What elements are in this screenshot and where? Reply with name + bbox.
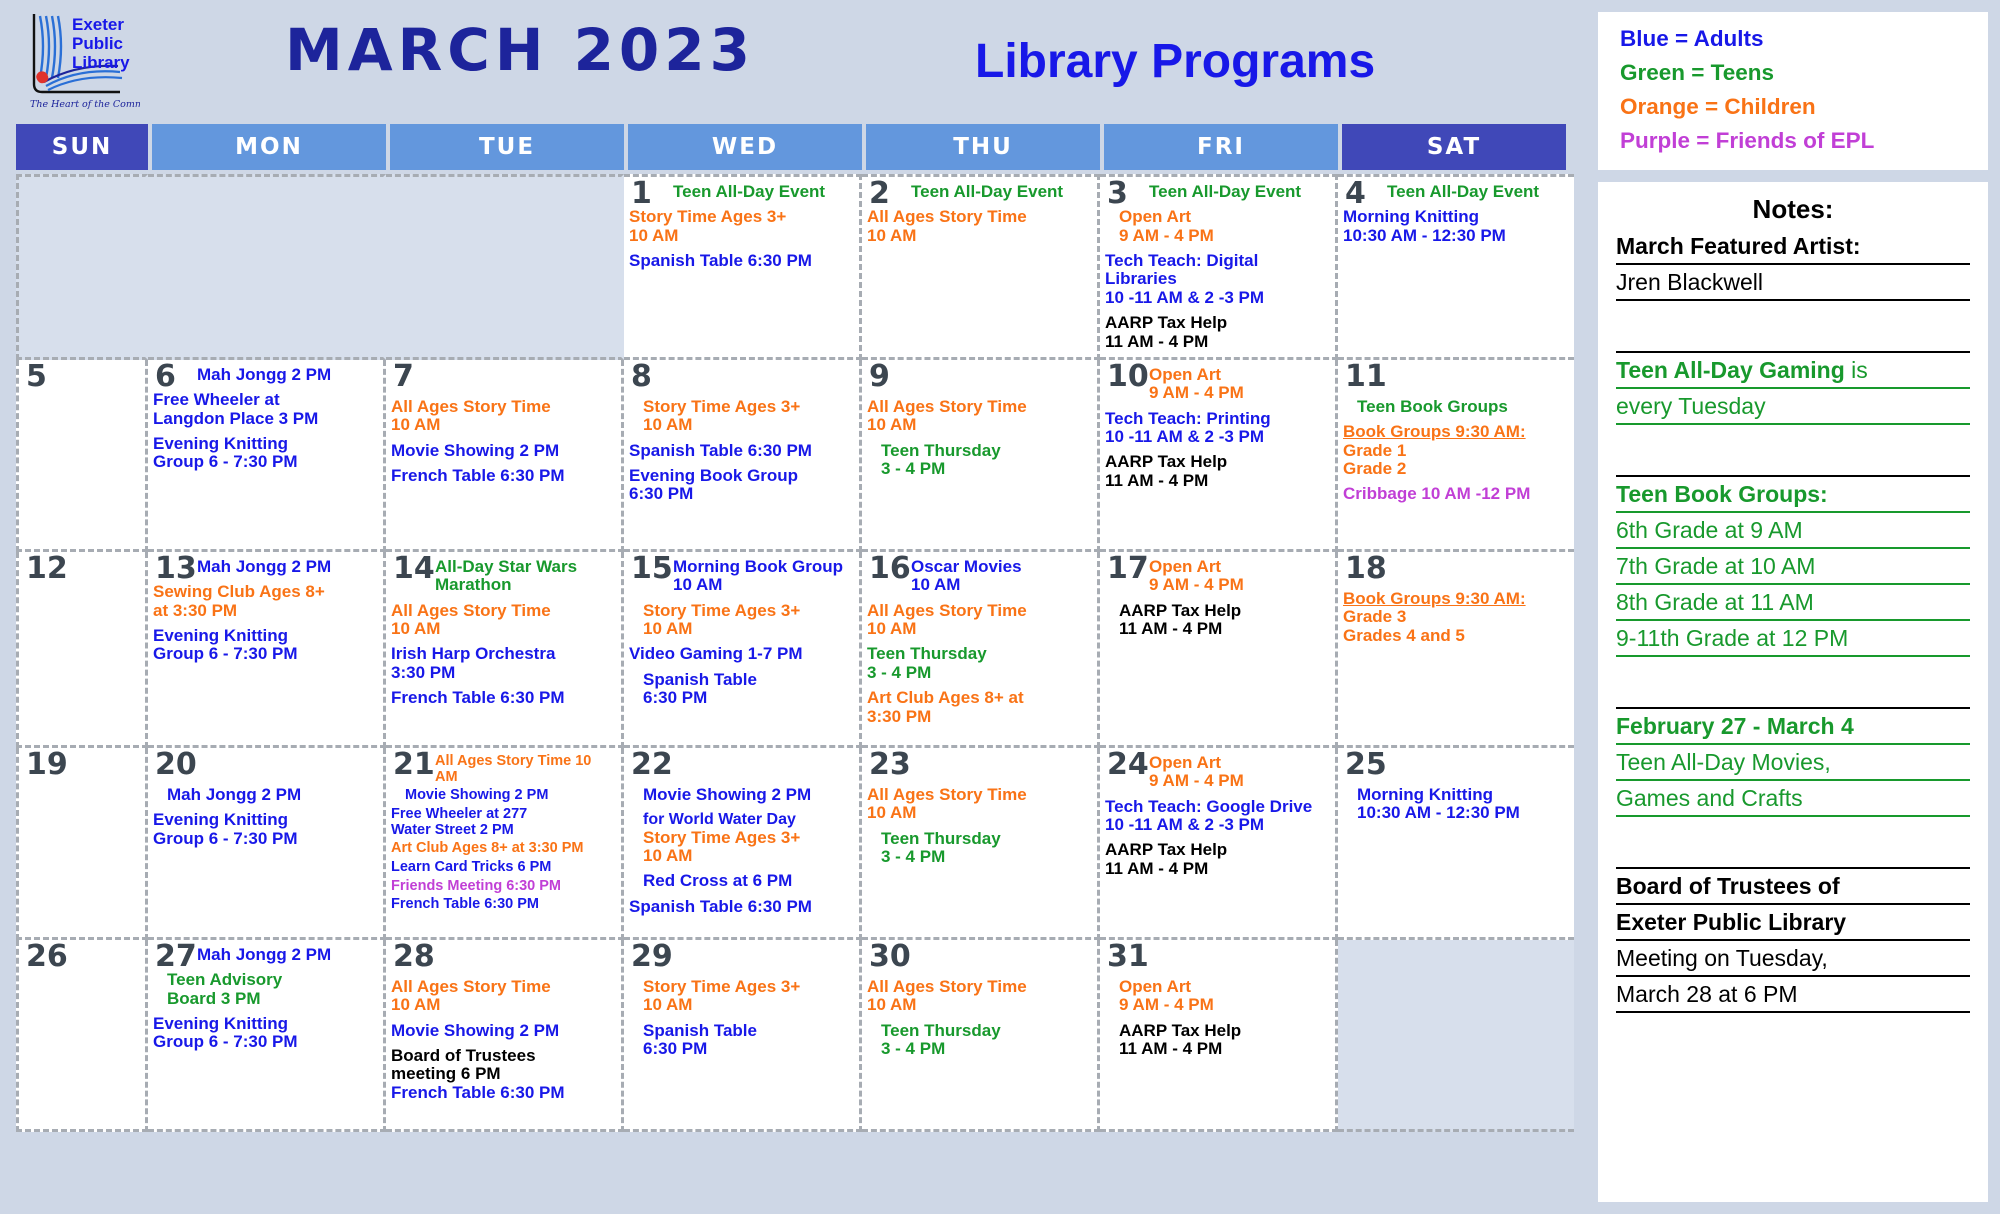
event-item[interactable]: French Table 6:30 PM (391, 1084, 616, 1102)
event-item[interactable]: Grade 1 Grade 2 (1343, 442, 1569, 479)
day-events: Morning Knitting 10:30 AM - 12:30 PM (1343, 786, 1569, 823)
event-item[interactable]: Tech Teach: Google Drive 10 -11 AM & 2 -… (1105, 798, 1330, 835)
calendar-day-29[interactable]: 29Story Time Ages 3+ 10 AMSpanish Table … (624, 940, 862, 1132)
calendar-day-23[interactable]: 23All Ages Story Time 10 AMTeen Thursday… (862, 748, 1100, 940)
day-events: All Ages Story Time 10 AMMovie Showing 2… (391, 978, 616, 1102)
day-events: Teen All-Day EventOpen Art 9 AM - 4 PMTe… (1105, 183, 1330, 351)
calendar-day-22[interactable]: 22Movie Showing 2 PMfor World Water DayS… (624, 748, 862, 940)
day-number: 5 (26, 362, 47, 392)
event-item[interactable]: All Ages Story Time 10 AM (867, 602, 1092, 639)
event-item[interactable]: All Ages Story Time 10 AM (867, 978, 1092, 1015)
event-item[interactable]: Free Wheeler at 277 Water Street 2 PM (391, 807, 616, 838)
event-item[interactable]: Teen Thursday 3 - 4 PM (867, 645, 1092, 682)
calendar-cell-empty (16, 174, 148, 360)
calendar-day-2[interactable]: 2Teen All-Day EventAll Ages Story Time 1… (862, 174, 1100, 360)
day-number: 21 (393, 750, 435, 780)
event-item[interactable]: Story Time Ages 3+ 10 AM (643, 398, 854, 435)
notes-line: Games and Crafts (1616, 781, 1970, 817)
day-number: 18 (1345, 554, 1387, 584)
calendar-day-4[interactable]: 4Teen All-Day EventMorning Knitting 10:3… (1338, 174, 1574, 360)
notes-line: March 28 at 6 PM (1616, 977, 1970, 1013)
event-item[interactable]: Oscar Movies 10 AM (911, 558, 1092, 595)
weekday-header-wed: WED (628, 124, 862, 170)
day-events: All Ages Story Time 10 AMTeen Thursday 3… (867, 398, 1092, 478)
event-item[interactable]: Open Art 9 AM - 4 PM (1119, 208, 1330, 245)
day-events: Movie Showing 2 PMfor World Water DaySto… (629, 786, 854, 916)
day-number: 7 (393, 362, 414, 392)
event-item[interactable]: Teen Thursday 3 - 4 PM (881, 830, 1092, 867)
calendar-day-9[interactable]: 9All Ages Story Time 10 AMTeen Thursday … (862, 360, 1100, 552)
event-item[interactable]: AARP Tax Help 11 AM - 4 PM (1105, 453, 1330, 490)
event-item[interactable]: Free Wheeler at Langdon Place 3 PM (153, 391, 378, 428)
event-item[interactable]: French Table 6:30 PM (391, 689, 616, 707)
event-item[interactable]: Story Time Ages 3+ 10 AM (643, 978, 854, 1015)
day-events: Teen All-Day EventMorning Knitting 10:30… (1343, 183, 1569, 245)
event-item[interactable]: Irish Harp Orchestra 3:30 PM (391, 645, 616, 682)
day-number: 25 (1345, 750, 1387, 780)
event-item[interactable]: French Table 6:30 PM (391, 897, 616, 913)
event-item[interactable]: Open Art 9 AM - 4 PM (1149, 558, 1330, 595)
notes-line: March Featured Artist: (1616, 229, 1970, 265)
event-item[interactable]: Grade 3 Grades 4 and 5 (1343, 608, 1569, 645)
day-events: Story Time Ages 3+ 10 AMSpanish Table 6:… (629, 978, 854, 1058)
day-number: 26 (26, 942, 68, 972)
event-item[interactable]: Book Groups 9:30 AM: (1343, 590, 1569, 608)
event-item[interactable]: Evening Book Group 6:30 PM (629, 467, 854, 504)
programs-title: Library Programs (975, 34, 1375, 89)
notes-spacer (1616, 657, 1970, 679)
event-item[interactable]: Board of Trustees meeting 6 PM (391, 1047, 616, 1084)
calendar-day-19[interactable]: 19 (16, 748, 148, 940)
calendar-day-6[interactable]: 6Mah Jongg 2 PMFree Wheeler at Langdon P… (148, 360, 386, 552)
notes-title: Notes: (1616, 194, 1970, 225)
event-item[interactable]: Movie Showing 2 PM (643, 786, 854, 804)
weekday-header-sat: SAT (1342, 124, 1566, 170)
legend-item-children: Orange = Children (1620, 90, 1988, 124)
event-item[interactable]: Story Time Ages 3+ 10 AM (643, 602, 854, 639)
event-item[interactable]: Spanish Table 6:30 PM (629, 252, 854, 270)
calendar-day-11[interactable]: 11Teen Book GroupsBook Groups 9:30 AM:Gr… (1338, 360, 1574, 552)
event-item[interactable]: All Ages Story Time 10 AM (391, 978, 616, 1015)
event-item[interactable]: Teen Book Groups (1357, 398, 1569, 416)
day-number: 20 (155, 750, 197, 780)
legend-item-friends: Purple = Friends of EPL (1620, 124, 1988, 158)
event-item[interactable]: Teen Advisory Board 3 PM (167, 971, 378, 1008)
day-number: 23 (869, 750, 911, 780)
notes-panel: Notes: March Featured Artist:Jren Blackw… (1598, 182, 1988, 1202)
notes-line: Jren Blackwell (1616, 265, 1970, 301)
notes-lines: March Featured Artist:Jren Blackwell Tee… (1616, 229, 1970, 1013)
day-events: Teen Book GroupsBook Groups 9:30 AM:Grad… (1343, 398, 1569, 504)
event-item[interactable]: Teen All-Day Event (1387, 183, 1569, 201)
event-item[interactable]: Evening Knitting Group 6 - 7:30 PM (153, 1015, 378, 1052)
weekday-header-fri: FRI (1104, 124, 1338, 170)
calendar-day-28[interactable]: 28All Ages Story Time 10 AMMovie Showing… (386, 940, 624, 1132)
notes-spacer (1616, 817, 1970, 839)
notes-line: Teen Book Groups: (1616, 477, 1970, 513)
day-events: Open Art 9 AM - 4 PMAARP Tax Help 11 AM … (1105, 978, 1330, 1058)
day-number: 14 (393, 554, 435, 584)
day-number: 15 (631, 554, 673, 584)
day-number: 6 (155, 362, 176, 392)
event-item[interactable]: Art Club Ages 8+ at 3:30 PM (391, 841, 616, 857)
event-item[interactable]: All-Day Star Wars Marathon (435, 558, 616, 595)
day-number: 9 (869, 362, 890, 392)
day-number: 11 (1345, 362, 1387, 392)
notes-line: Teen All-Day Movies, (1616, 745, 1970, 781)
calendar-day-27[interactable]: 27Mah Jongg 2 PMTeen Advisory Board 3 PM… (148, 940, 386, 1132)
event-item[interactable]: Video Gaming 1-7 PM (629, 645, 854, 663)
notes-line: Exeter Public Library (1616, 905, 1970, 941)
event-item[interactable]: Movie Showing 2 PM (391, 1022, 616, 1040)
notes-line: 6th Grade at 9 AM (1616, 513, 1970, 549)
day-number: 8 (631, 362, 652, 392)
event-item[interactable]: Friends Meeting 6:30 PM (391, 879, 616, 895)
calendar-day-20[interactable]: 20Mah Jongg 2 PMEvening Knitting Group 6… (148, 748, 386, 940)
event-item[interactable]: AARP Tax Help 11 AM - 4 PM (1119, 1022, 1330, 1059)
notes-line: Teen All-Day Gaming is (1616, 353, 1970, 389)
calendar-day-15[interactable]: 15Morning Book Group 10 AMStory Time Age… (624, 552, 862, 748)
notes-spacer (1616, 425, 1970, 447)
calendar-cell-empty (148, 174, 386, 360)
event-item[interactable]: Evening Knitting Group 6 - 7:30 PM (153, 811, 378, 848)
event-item[interactable]: Story Time Ages 3+ 10 AM (643, 829, 854, 866)
calendar-day-10[interactable]: 10Open Art 9 AM - 4 PMTech Teach: Printi… (1100, 360, 1338, 552)
notes-blank-rule (1616, 323, 1970, 353)
notes-blank-rule (1616, 839, 1970, 869)
calendar-cell-empty (1338, 940, 1574, 1132)
calendar-day-31[interactable]: 31Open Art 9 AM - 4 PMAARP Tax Help 11 A… (1100, 940, 1338, 1132)
notes-blank-rule (1616, 679, 1970, 709)
weekday-header-sun: SUN (16, 124, 148, 170)
event-item[interactable]: Open Art 9 AM - 4 PM (1149, 754, 1330, 791)
library-logo: Exeter Public Library The Heart of the C… (20, 6, 140, 114)
day-events: Teen All-Day EventStory Time Ages 3+ 10 … (629, 183, 854, 270)
weekday-header-row: SUN MON TUE WED THU FRI SAT (16, 124, 1574, 170)
day-number: 16 (869, 554, 911, 584)
calendar-day-12[interactable]: 12 (16, 552, 148, 748)
calendar-page: Exeter Public Library The Heart of the C… (0, 0, 2000, 1214)
event-item[interactable]: Movie Showing 2 PM (405, 788, 616, 804)
day-events: Book Groups 9:30 AM:Grade 3 Grades 4 and… (1343, 590, 1569, 645)
weekday-header-thu: THU (866, 124, 1100, 170)
notes-line: Board of Trustees of (1616, 869, 1970, 905)
calendar-day-24[interactable]: 24Open Art 9 AM - 4 PMTech Teach: Google… (1100, 748, 1338, 940)
page-header: Exeter Public Library The Heart of the C… (0, 0, 1590, 122)
day-number: 12 (26, 554, 68, 584)
event-item[interactable]: All Ages Story Time 10 AM (391, 398, 616, 435)
svg-text:Exeter: Exeter (72, 15, 124, 34)
event-item[interactable]: French Table 6:30 PM (391, 467, 616, 485)
calendar-day-17[interactable]: 17Open Art 9 AM - 4 PMAARP Tax Help 11 A… (1100, 552, 1338, 748)
event-item[interactable]: Sewing Club Ages 8+ at 3:30 PM (153, 583, 378, 620)
svg-text:The Heart of the Community: The Heart of the Community (30, 99, 140, 110)
day-number: 28 (393, 942, 435, 972)
event-item[interactable]: Morning Knitting 10:30 AM - 12:30 PM (1357, 786, 1569, 823)
day-events: All Ages Story Time 10 AMTeen Thursday 3… (867, 978, 1092, 1058)
event-item[interactable]: Mah Jongg 2 PM (197, 366, 378, 384)
day-number: 31 (1107, 942, 1149, 972)
calendar-day-14[interactable]: 14All-Day Star Wars MarathonAll Ages Sto… (386, 552, 624, 748)
day-number: 1 (631, 179, 652, 209)
notes-blank-rule (1616, 447, 1970, 477)
day-number: 17 (1107, 554, 1149, 584)
notes-line: every Tuesday (1616, 389, 1970, 425)
day-number: 10 (1107, 362, 1149, 392)
color-legend: Blue = Adults Green = Teens Orange = Chi… (1598, 12, 1988, 170)
event-item[interactable]: AARP Tax Help 11 AM - 4 PM (1105, 314, 1330, 351)
legend-item-adults: Blue = Adults (1620, 22, 1988, 56)
event-item[interactable]: Red Cross at 6 PM (643, 872, 854, 890)
event-item[interactable]: All Ages Story Time 10 AM (867, 208, 1092, 245)
event-item[interactable]: Learn Card Tricks 6 PM (391, 860, 616, 876)
event-item[interactable]: for World Water Day (643, 811, 854, 828)
notes-line: February 27 - March 4 (1616, 709, 1970, 745)
day-number: 24 (1107, 750, 1149, 780)
event-item[interactable]: Book Groups 9:30 AM: (1343, 423, 1569, 441)
day-number: 27 (155, 942, 197, 972)
event-item[interactable]: AARP Tax Help 11 AM - 4 PM (1105, 841, 1330, 878)
day-number: 13 (155, 554, 197, 584)
notes-line: Meeting on Tuesday, (1616, 941, 1970, 977)
calendar-day-26[interactable]: 26 (16, 940, 148, 1132)
svg-text:Library: Library (72, 53, 130, 72)
event-item[interactable]: Teen All-Day Event (1149, 183, 1330, 201)
exeter-public-library-logo-icon: Exeter Public Library The Heart of the C… (20, 6, 140, 114)
legend-item-teens: Green = Teens (1620, 56, 1988, 90)
event-item[interactable]: Morning Book Group 10 AM (673, 558, 854, 595)
calendar-cell-empty (386, 174, 624, 360)
event-item[interactable]: Spanish Table 6:30 PM (629, 442, 854, 460)
calendar-day-30[interactable]: 30All Ages Story Time 10 AMTeen Thursday… (862, 940, 1100, 1132)
event-item[interactable]: Teen All-Day Event (673, 183, 854, 201)
day-events: All Ages Story Time 10 AMTeen Thursday 3… (867, 786, 1092, 866)
event-item[interactable]: AARP Tax Help 11 AM - 4 PM (1119, 602, 1330, 639)
day-events: Mah Jongg 2 PMEvening Knitting Group 6 -… (153, 786, 378, 848)
calendar-grid: 1Teen All-Day EventStory Time Ages 3+ 10… (16, 174, 1574, 1202)
notes-line: 9-11th Grade at 12 PM (1616, 621, 1970, 657)
event-item[interactable]: Morning Knitting 10:30 AM - 12:30 PM (1343, 208, 1569, 245)
event-item[interactable]: Teen Thursday 3 - 4 PM (881, 1022, 1092, 1059)
notes-line: 8th Grade at 11 AM (1616, 585, 1970, 621)
event-item[interactable]: Mah Jongg 2 PM (167, 786, 378, 804)
event-item[interactable]: Spanish Table 6:30 PM (629, 898, 854, 916)
event-item[interactable]: Open Art 9 AM - 4 PM (1119, 978, 1330, 1015)
day-events: Mah Jongg 2 PMFree Wheeler at Langdon Pl… (153, 366, 378, 472)
event-item[interactable]: Evening Knitting Group 6 - 7:30 PM (153, 627, 378, 664)
weekday-header-mon: MON (152, 124, 386, 170)
calendar-day-1[interactable]: 1Teen All-Day EventStory Time Ages 3+ 10… (624, 174, 862, 360)
event-item[interactable]: Mah Jongg 2 PM (197, 946, 378, 964)
calendar-day-13[interactable]: 13Mah Jongg 2 PMSewing Club Ages 8+ at 3… (148, 552, 386, 748)
calendar-day-21[interactable]: 21All Ages Story Time 10 AMMovie Showing… (386, 748, 624, 940)
day-number: 30 (869, 942, 911, 972)
day-events: All Ages Story Time 10 AMMovie Showing 2… (391, 398, 616, 485)
event-item[interactable]: Spanish Table 6:30 PM (643, 1022, 854, 1059)
event-item[interactable]: Spanish Table 6:30 PM (643, 671, 854, 708)
day-number: 2 (869, 179, 890, 209)
event-item[interactable]: Art Club Ages 8+ at 3:30 PM (867, 689, 1092, 726)
event-item[interactable]: All Ages Story Time 10 AM (391, 602, 616, 639)
event-item[interactable]: Tech Teach: Digital Libraries 10 -11 AM … (1105, 252, 1330, 307)
calendar-day-5[interactable]: 5 (16, 360, 148, 552)
day-events: Story Time Ages 3+ 10 AMSpanish Table 6:… (629, 398, 854, 504)
day-number: 4 (1345, 179, 1366, 209)
day-number: 22 (631, 750, 673, 780)
day-events: Teen All-Day EventAll Ages Story Time 10… (867, 183, 1092, 245)
calendar-day-18[interactable]: 18Book Groups 9:30 AM:Grade 3 Grades 4 a… (1338, 552, 1574, 748)
event-item[interactable]: All Ages Story Time 10 AM (435, 754, 616, 785)
svg-text:Public: Public (72, 34, 123, 53)
event-item[interactable]: Movie Showing 2 PM (391, 442, 616, 460)
day-number: 29 (631, 942, 673, 972)
page-title: MARCH 2023 (285, 16, 755, 84)
calendar-day-7[interactable]: 7All Ages Story Time 10 AMMovie Showing … (386, 360, 624, 552)
weekday-header-tue: TUE (390, 124, 624, 170)
event-item[interactable]: Story Time Ages 3+ 10 AM (629, 208, 854, 245)
event-item[interactable]: All Ages Story Time 10 AM (867, 786, 1092, 823)
notes-spacer (1616, 301, 1970, 323)
calendar-day-3[interactable]: 3Teen All-Day EventOpen Art 9 AM - 4 PMT… (1100, 174, 1338, 360)
day-number: 3 (1107, 179, 1128, 209)
event-item[interactable]: Tech Teach: Printing 10 -11 AM & 2 -3 PM (1105, 410, 1330, 447)
event-item[interactable]: Teen Thursday 3 - 4 PM (881, 442, 1092, 479)
event-item[interactable]: Cribbage 10 AM -12 PM (1343, 485, 1569, 503)
event-item[interactable]: Teen All-Day Event (911, 183, 1092, 201)
notes-line: 7th Grade at 10 AM (1616, 549, 1970, 585)
calendar-day-8[interactable]: 8Story Time Ages 3+ 10 AMSpanish Table 6… (624, 360, 862, 552)
day-number: 19 (26, 750, 68, 780)
event-item[interactable]: Evening Knitting Group 6 - 7:30 PM (153, 435, 378, 472)
event-item[interactable]: Open Art 9 AM - 4 PM (1149, 366, 1330, 403)
calendar-day-16[interactable]: 16Oscar Movies 10 AMAll Ages Story Time … (862, 552, 1100, 748)
event-item[interactable]: Mah Jongg 2 PM (197, 558, 378, 576)
event-item[interactable]: All Ages Story Time 10 AM (867, 398, 1092, 435)
calendar-day-25[interactable]: 25Morning Knitting 10:30 AM - 12:30 PM (1338, 748, 1574, 940)
